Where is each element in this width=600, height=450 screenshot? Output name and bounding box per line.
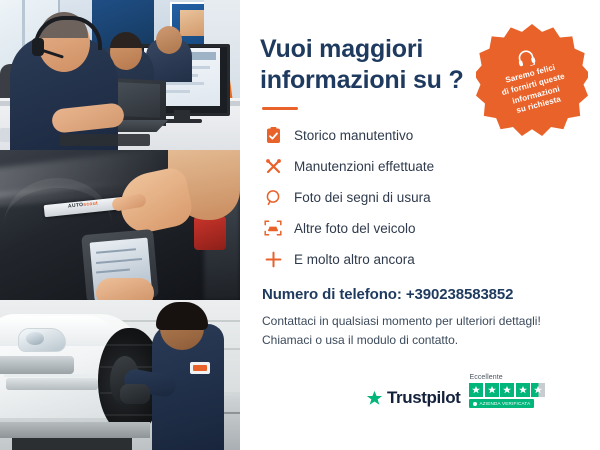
wall-poster-image <box>180 10 204 36</box>
car-frame-icon <box>262 217 284 239</box>
hand-holding-tablet <box>96 278 154 300</box>
list-item-label: Foto dei segni di usura <box>294 190 431 205</box>
verified-company-badge: AZIENDA VERIFICATA <box>469 399 534 408</box>
phone-label: Numero di telefono: <box>262 286 406 303</box>
background-agent-2-head <box>156 26 182 54</box>
title-line-1: Vuoi maggiori <box>260 35 423 63</box>
phone-line: Numero di telefono: +390238583852 <box>262 286 578 303</box>
list-item: Altre foto del veicolo <box>262 217 578 239</box>
list-item: E molto altro ancora <box>262 248 578 270</box>
photo-column: AUTOscout <box>0 0 240 450</box>
contact-note-line-1: Contattaci in qualsiasi momento per ulte… <box>262 314 541 328</box>
star-full <box>500 383 514 397</box>
headlight-inner <box>26 332 44 345</box>
content-panel: Vuoi maggiori informazioni su ? Storico … <box>240 0 600 450</box>
list-item: Manutenzioni effettuate <box>262 155 578 177</box>
chrome-trim <box>4 374 104 377</box>
phone-number[interactable]: +390238583852 <box>406 286 514 303</box>
wrench-cross-icon <box>262 155 284 177</box>
list-item-label: Altre foto del veicolo <box>294 221 416 236</box>
trustpilot-rating: Eccellente <box>469 374 545 408</box>
list-item-label: Manutenzioni effettuate <box>294 159 434 174</box>
lower-grille <box>6 378 98 390</box>
call-center-photo <box>0 0 240 150</box>
tyre-tread <box>100 414 158 416</box>
feature-list: Storico manutentivo Manutenzioni effettu… <box>262 124 578 270</box>
list-item-label: E molto altro ancora <box>294 252 415 267</box>
headset-icon <box>514 46 538 69</box>
callout-sticker: Saremo felici di fornirti queste informa… <box>476 24 588 136</box>
mechanic-glove <box>120 384 150 404</box>
plus-icon <box>262 248 284 270</box>
lift-shadow <box>12 438 132 450</box>
magnifier-icon <box>262 186 284 208</box>
contact-note: Contattaci in qualsiasi momento per ulte… <box>262 312 578 349</box>
trustpilot-stars <box>469 383 545 397</box>
wheel-inspection-photo <box>0 300 240 450</box>
vehicle-inspection-photo: AUTOscout <box>0 150 240 300</box>
trustpilot-widget[interactable]: Trustpilot Eccellente <box>366 374 545 408</box>
trustpilot-rating-label: Eccellente <box>469 374 502 381</box>
verified-label: AZIENDA VERIFICATA <box>479 401 530 406</box>
tyre-tread <box>100 344 158 346</box>
trustpilot-star-icon <box>366 390 383 407</box>
trustpilot-name: Trustpilot <box>387 388 460 408</box>
verified-check-icon <box>473 402 477 406</box>
monitor-base <box>162 119 202 123</box>
title-divider <box>262 107 298 110</box>
list-item-label: Storico manutentivo <box>294 128 413 143</box>
headset-earcup <box>32 38 44 56</box>
star-full <box>469 383 483 397</box>
list-item: Foto dei segni di usura <box>262 186 578 208</box>
star-full <box>516 383 530 397</box>
uniform-logo-mark <box>193 365 207 371</box>
star-half <box>531 383 545 397</box>
sticker-content: Saremo felici di fornirti queste informa… <box>463 11 600 148</box>
advertisement-banner: AUTOscout <box>0 0 600 450</box>
contact-note-line-2: Chiamaci o usa il modulo di contatto. <box>262 333 458 347</box>
trustpilot-brand: Trustpilot <box>366 388 460 408</box>
sticker-text: Saremo felici di fornirti queste informa… <box>498 61 572 120</box>
car-lift-platform <box>0 422 150 438</box>
keyboard <box>60 134 150 146</box>
star-full <box>485 383 499 397</box>
clipboard-check-icon <box>262 124 284 146</box>
tail-light <box>194 216 226 250</box>
title-line-2: informazioni su ? <box>260 66 464 94</box>
front-grille <box>0 356 74 374</box>
